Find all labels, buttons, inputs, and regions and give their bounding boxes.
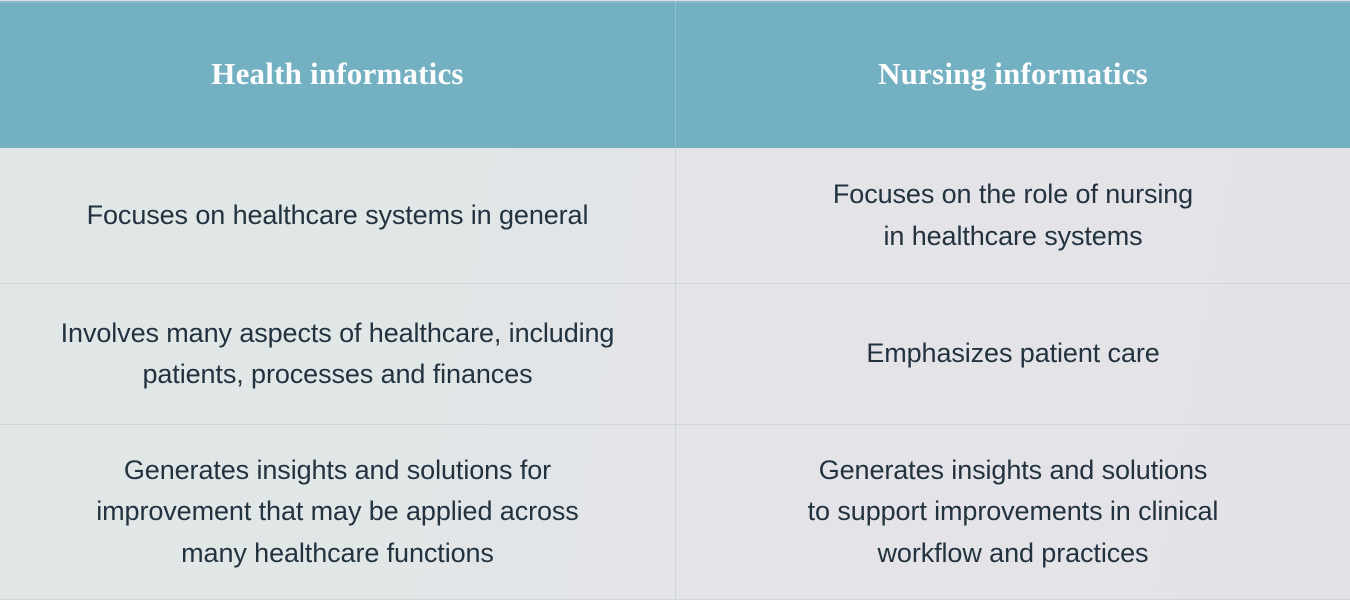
table-body: Focuses on healthcare systems in general… (0, 148, 1350, 599)
table-row: Focuses on healthcare systems in general… (0, 148, 1350, 283)
table-row: Generates insights and solutions for imp… (0, 424, 1350, 599)
column-header-health-informatics: Health informatics (0, 1, 675, 148)
column-header-nursing-informatics: Nursing informatics (675, 1, 1350, 148)
cell-nursing-informatics-1: Focuses on the role of nursing in health… (675, 148, 1350, 283)
cell-health-informatics-2: Involves many aspects of healthcare, inc… (0, 284, 675, 424)
cell-nursing-informatics-2: Emphasizes patient care (675, 284, 1350, 424)
cell-nursing-informatics-3: Generates insights and solutions to supp… (675, 425, 1350, 599)
comparison-table: Health informatics Nursing informatics F… (0, 0, 1350, 600)
table-row: Involves many aspects of healthcare, inc… (0, 283, 1350, 424)
cell-health-informatics-3: Generates insights and solutions for imp… (0, 425, 675, 599)
table-header-row: Health informatics Nursing informatics (0, 1, 1350, 148)
cell-health-informatics-1: Focuses on healthcare systems in general (0, 148, 675, 283)
